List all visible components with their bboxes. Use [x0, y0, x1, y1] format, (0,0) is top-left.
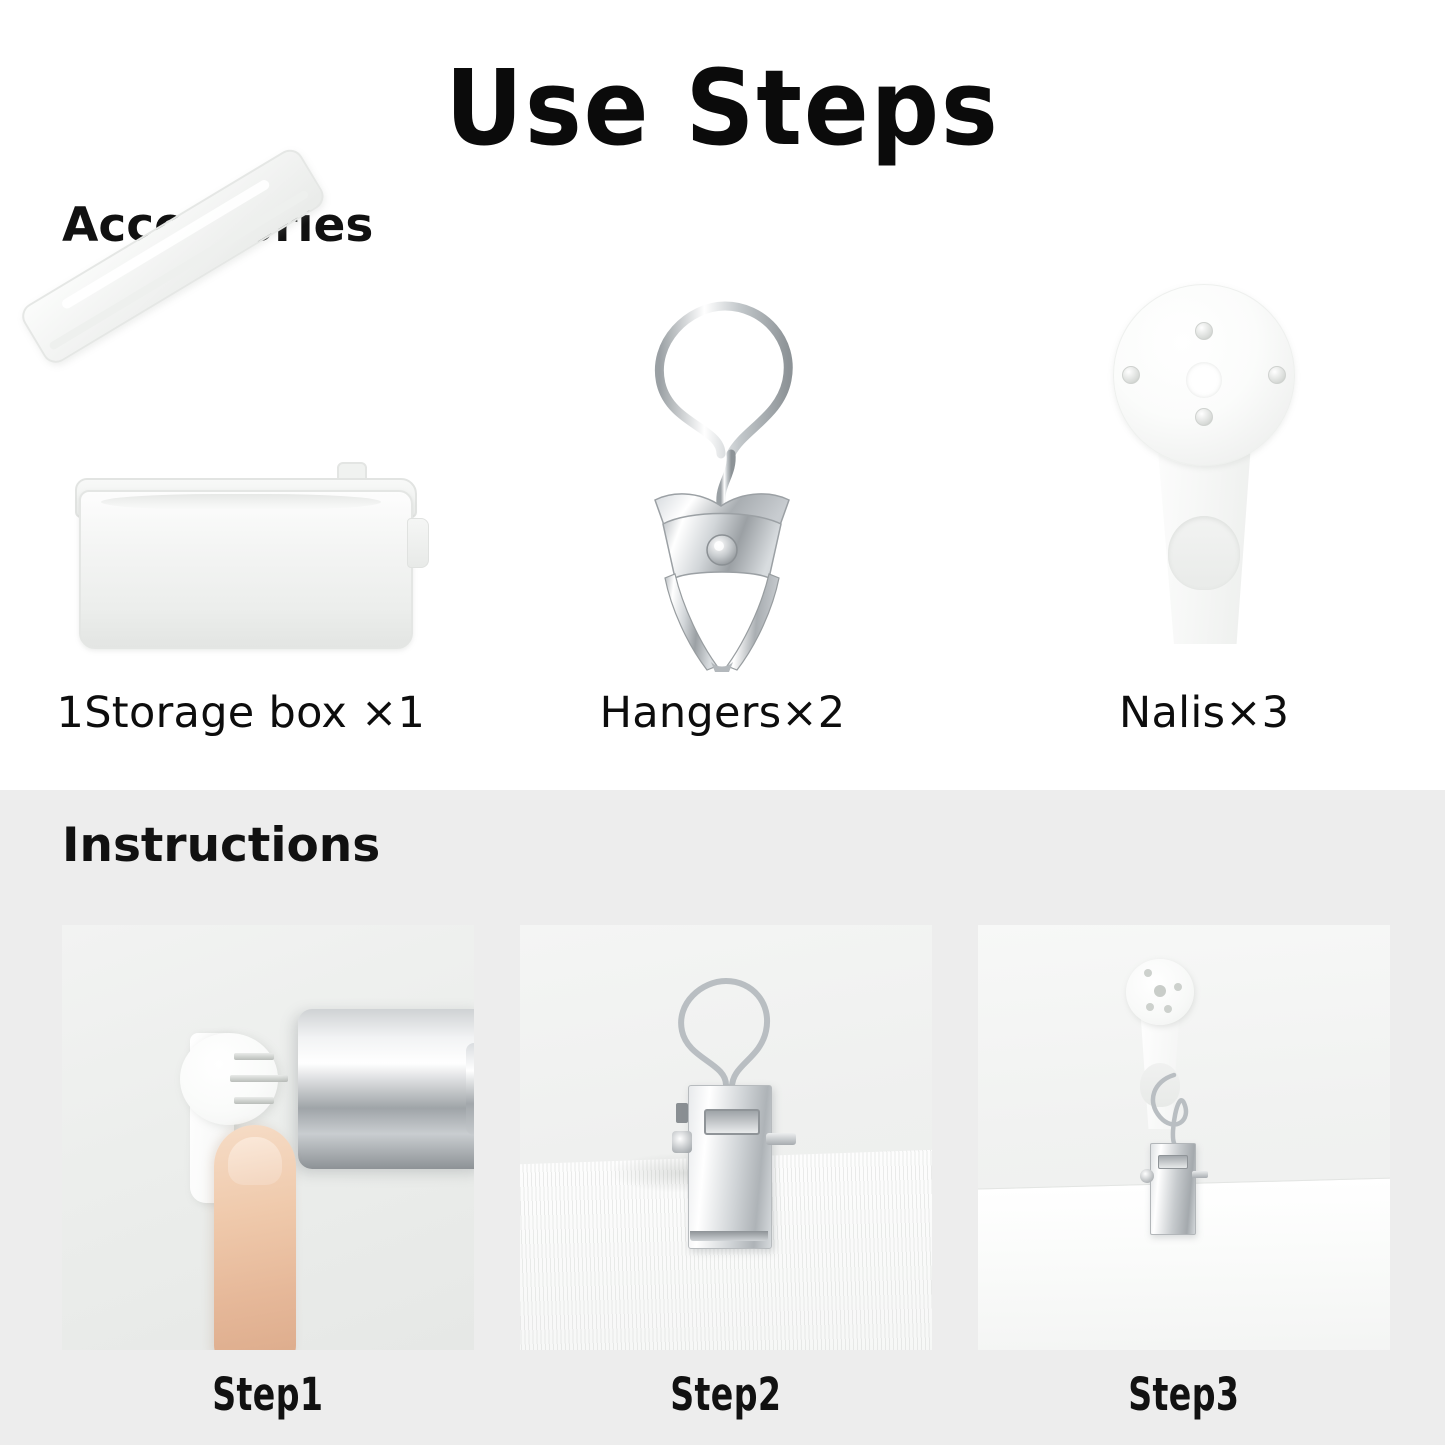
hook-pin-upper — [234, 1053, 274, 1060]
wall-hook-notch — [1168, 516, 1240, 590]
hook-stem — [720, 454, 730, 504]
accessories-section: Use Steps Accessories — [0, 0, 1445, 790]
hanging-clip-wire-svg — [978, 925, 1390, 1350]
hanging-clip-loop — [1153, 1075, 1186, 1143]
page-title: Use Steps — [58, 56, 1387, 160]
wall-hook-center-hole — [1186, 362, 1222, 398]
clip-rivet-highlight — [714, 541, 724, 551]
hanger-clip-icon — [593, 278, 853, 673]
step-2-photo — [520, 925, 932, 1350]
fingernail — [228, 1137, 282, 1185]
hammer-neck — [466, 1043, 474, 1135]
step-caption-2: Step2 — [670, 1368, 781, 1421]
step-item-2: Step2 — [520, 925, 932, 1421]
box-lid — [17, 145, 329, 368]
step-item-1: Step1 — [62, 925, 474, 1421]
step-caption-1: Step1 — [212, 1368, 323, 1421]
clip-pivot-left — [672, 1131, 692, 1153]
hanging-clip-slot — [1158, 1155, 1188, 1169]
instructions-section: Instructions Step1 — [0, 790, 1445, 1445]
clip-left-leg — [665, 574, 717, 670]
hook-pin-middle — [230, 1075, 288, 1082]
clip-loop — [681, 981, 767, 1087]
clip-right-leg — [727, 574, 779, 670]
wall-hook-art — [963, 270, 1445, 670]
hanger-clip-svg — [593, 278, 853, 673]
accessory-caption-nails: Nalis×3 — [963, 688, 1445, 738]
wall-hook-pin-top — [1195, 322, 1213, 340]
clip-side-notch — [676, 1103, 688, 1123]
step-3-photo — [978, 925, 1390, 1350]
accessory-item-nails: Nalis×3 — [963, 270, 1445, 790]
storage-box-art — [0, 270, 482, 670]
box-inner-shadow — [101, 494, 381, 510]
steps-row: Step1 — [62, 925, 1390, 1421]
step-item-3: Step3 — [978, 925, 1390, 1421]
box-body — [79, 490, 413, 649]
box-latch — [407, 518, 429, 568]
step-1-photo — [62, 925, 474, 1350]
storage-box-icon — [41, 280, 441, 670]
accessory-caption-hangers: Hangers×2 — [482, 688, 964, 738]
instructions-heading: Instructions — [62, 818, 380, 873]
accessory-item-hangers: Hangers×2 — [482, 270, 964, 790]
wall-hook-nail-icon — [1084, 284, 1324, 664]
wall-hook-pin-left — [1122, 366, 1140, 384]
clip-slot — [704, 1109, 760, 1135]
product-instruction-page: Use Steps Accessories — [0, 0, 1445, 1445]
accessories-row: 1Storage box ×1 — [0, 270, 1445, 790]
accessory-item-storage-box: 1Storage box ×1 — [0, 270, 482, 790]
clip-pivot-right — [766, 1133, 796, 1145]
wall-hook-pin-right — [1268, 366, 1286, 384]
hanging-clip-pivot-right — [1192, 1171, 1208, 1178]
step-caption-3: Step3 — [1128, 1368, 1239, 1421]
wall-hook-pin-bottom — [1195, 408, 1213, 426]
hanger-clip-art — [482, 270, 964, 670]
clip-lower-lip — [690, 1231, 768, 1241]
hammer-head-icon — [298, 1009, 474, 1169]
hook-pin-lower — [234, 1097, 274, 1104]
hook-loop — [659, 306, 788, 454]
accessory-caption-storage-box: 1Storage box ×1 — [0, 688, 482, 738]
hanging-clip-pivot — [1140, 1169, 1154, 1183]
